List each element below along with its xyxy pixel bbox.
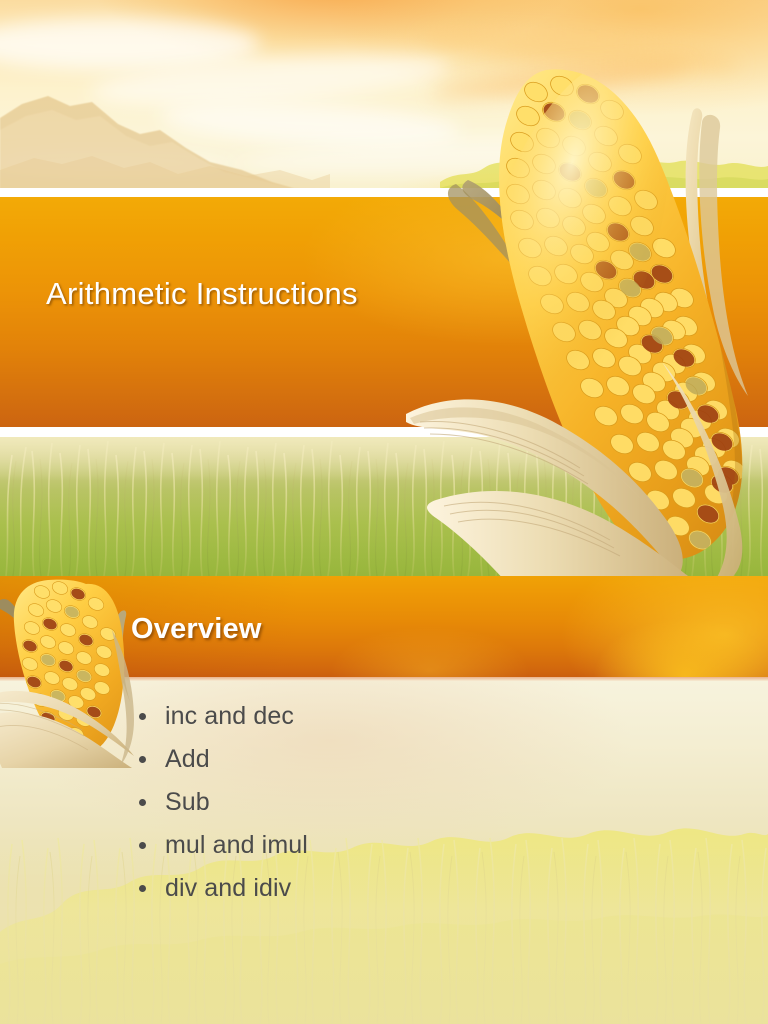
bullet-label: Sub — [165, 788, 210, 817]
bullet-label: Add — [165, 745, 210, 774]
bullet-marker-icon — [139, 713, 146, 720]
bullet-label: mul and imul — [165, 831, 308, 860]
corn-cob-icon — [396, 62, 768, 576]
list-item[interactable]: Sub — [0, 781, 768, 824]
list-item[interactable]: div and idiv — [0, 867, 768, 910]
bullet-marker-icon — [139, 885, 146, 892]
list-item[interactable]: inc and dec — [0, 695, 768, 738]
bullet-marker-icon — [139, 756, 146, 763]
bullet-marker-icon — [139, 842, 146, 849]
foothill-silhouette-icon — [0, 140, 330, 195]
slide-2[interactable]: Overview inc and dec Add Sub mul and imu… — [0, 576, 768, 1024]
bullet-label: inc and dec — [165, 702, 294, 731]
bullet-list: inc and dec Add Sub mul and imul div and… — [0, 695, 768, 910]
bullet-label: div and idiv — [165, 874, 291, 903]
slide-1[interactable]: Arithmetic Instructions — [0, 0, 768, 576]
list-item[interactable]: Add — [0, 738, 768, 781]
bullet-marker-icon — [139, 799, 146, 806]
slide-deck: Arithmetic Instructions — [0, 0, 768, 1024]
list-item[interactable]: mul and imul — [0, 824, 768, 867]
